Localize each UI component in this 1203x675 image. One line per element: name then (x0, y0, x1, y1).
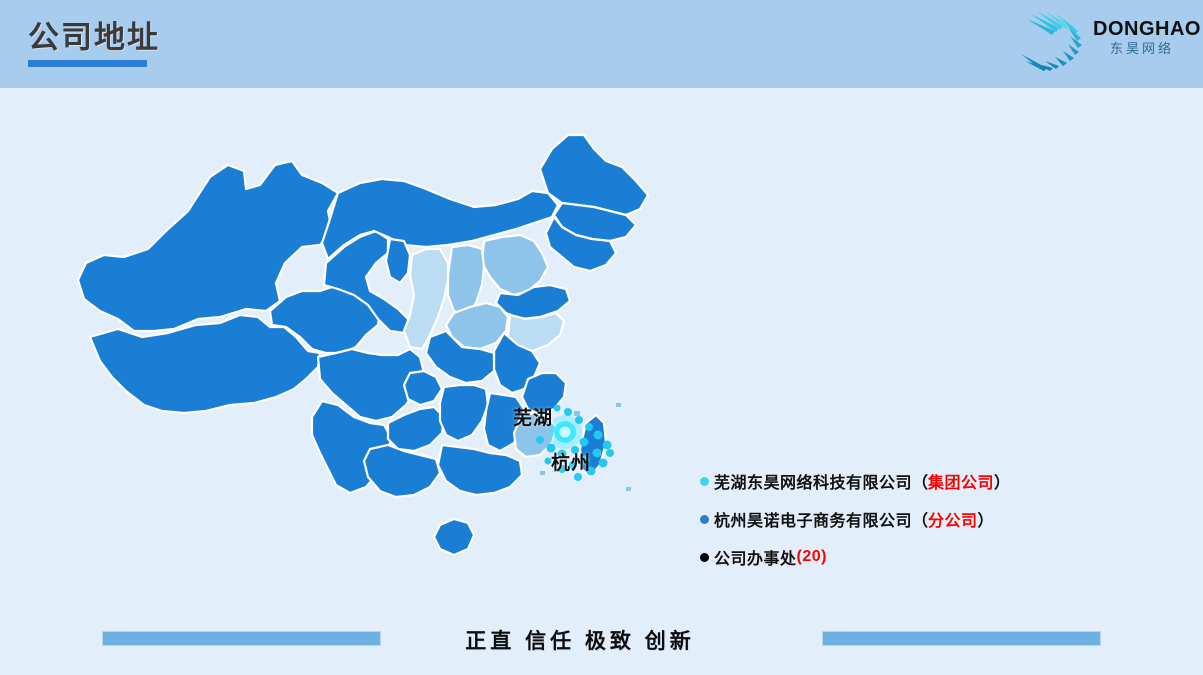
footer-bar-left (102, 631, 381, 646)
legend-company-tag: 集团公司 (928, 469, 994, 493)
legend-close-paren: ） (978, 507, 994, 531)
island-dot-2 (616, 403, 621, 407)
page-title: 公司地址 (28, 18, 160, 58)
header-band: 公司地址 (0, 0, 1203, 88)
map-label-hangzhou: 杭州 (551, 448, 591, 475)
legend-open-paren: （ (912, 469, 928, 493)
island-dot-1 (574, 411, 580, 416)
feather-fan-logo-icon (1017, 8, 1093, 74)
company-logo[interactable]: DONGHAO 东昊网络 (1009, 6, 1195, 76)
legend-company-tag: 分公司 (928, 507, 978, 531)
province-hainan (434, 519, 474, 555)
legend-bullet-icon (700, 515, 709, 524)
legend-bullet-icon (700, 477, 709, 486)
legend-item-branch-company[interactable]: 杭州昊诺电子商务有限公司 （ 分公司 ） (700, 500, 1120, 538)
province-chongqing (404, 371, 442, 405)
province-ningxia (386, 239, 410, 283)
legend: 芜湖东昊网络科技有限公司 （ 集团公司 ） 杭州昊诺电子商务有限公司 （ 分公司… (700, 462, 1120, 576)
legend-open-paren: （ (912, 507, 928, 531)
footer-slogan: 正直 信任 极致 创新 (455, 625, 705, 655)
title-underline (28, 60, 147, 67)
hq-marker-core (560, 427, 571, 438)
legend-item-group-company[interactable]: 芜湖东昊网络科技有限公司 （ 集团公司 ） (700, 462, 1120, 500)
logo-english-name: DONGHAO (1093, 18, 1193, 40)
legend-company-name: 杭州昊诺电子商务有限公司 (714, 507, 912, 531)
legend-bullet-icon (700, 553, 709, 562)
legend-item-offices[interactable]: 公司办事处 (20) (700, 538, 1120, 576)
province-tibet (90, 315, 320, 413)
province-hunan (440, 385, 488, 441)
logo-text: DONGHAO 东昊网络 (1093, 18, 1193, 58)
logo-chinese-name: 东昊网络 (1093, 40, 1193, 58)
legend-close-paren: ） (994, 469, 1010, 493)
china-map[interactable] (70, 105, 710, 615)
island-dot-4 (540, 471, 545, 475)
footer-bar-right (822, 631, 1101, 646)
legend-office-count: (20) (797, 548, 827, 566)
page-title-wrap: 公司地址 (28, 18, 160, 67)
island-dot-3 (626, 487, 631, 491)
map-label-wuhu: 芜湖 (513, 403, 553, 430)
legend-company-name: 芜湖东昊网络科技有限公司 (714, 469, 912, 493)
slide: 公司地址 (0, 0, 1203, 675)
legend-office-label: 公司办事处 (714, 545, 797, 569)
province-guangxi (364, 445, 440, 497)
province-guangdong (438, 445, 522, 495)
